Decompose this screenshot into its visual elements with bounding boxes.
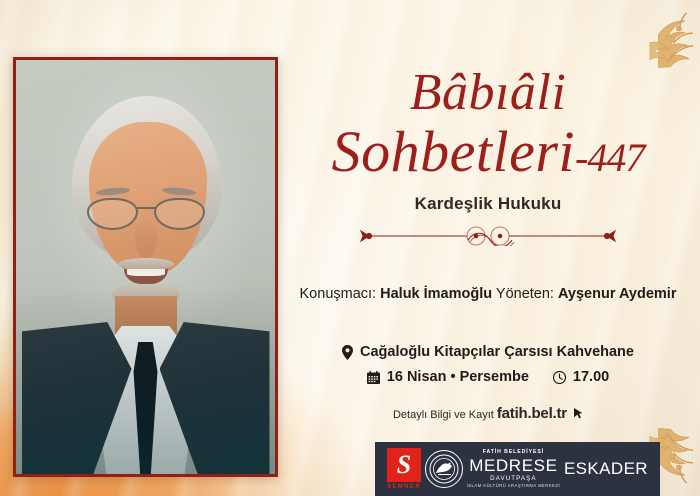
speaker-name: Haluk İmamoğlu (380, 286, 492, 302)
moderator-name: Ayşenur Aydemir (558, 286, 676, 302)
website-prefix: Detaylı Bilgi ve Kayıt (393, 409, 494, 421)
poster-title-number: -447 (575, 135, 644, 180)
semner-wordmark: SEMNER (387, 484, 421, 490)
poster-title-word: Sohbetleri (332, 119, 575, 184)
glasses-bridge (136, 207, 156, 209)
sponsor-logo-bar: S SEMNER FATİH BELEDİYESİ MEDRESE DAVUTP… (375, 442, 660, 496)
venue-text: Cağaloğlu Kitapçılar Çarsısı Kahvehane (360, 344, 634, 360)
calendar-icon (367, 371, 380, 384)
poster-subtitle: Kardeşlik Hukuku (288, 194, 688, 214)
portrait-shadow (16, 284, 275, 474)
medrese-main-text: MEDRESE (469, 457, 557, 474)
date-text: 16 Nisan • Persembe (387, 369, 529, 385)
clock-icon (553, 371, 566, 384)
glasses-lens-left (87, 198, 138, 230)
venue-row: Cağaloğlu Kitapçılar Çarsısı Kahvehane (288, 344, 688, 360)
cursor-click-icon (571, 411, 583, 423)
website-url[interactable]: fatih.bel.tr (497, 405, 567, 422)
location-pin-icon (342, 345, 353, 360)
moderator-label: Yöneten: (496, 286, 554, 302)
website-line: Detaylı Bilgi ve Kayıtfatih.bel.tr (288, 405, 688, 423)
time-text: 17.00 (573, 369, 609, 385)
poster-title-line1: Bâbıâli (288, 68, 688, 118)
event-details: Cağaloğlu Kitapçılar Çarsısı Kahvehane (288, 344, 688, 385)
medrese-top-text: FATİH BELEDİYESİ (483, 450, 544, 455)
semner-mark: S (387, 448, 421, 482)
logo-fatih-belediyesi (425, 450, 463, 488)
ornamental-divider (349, 226, 627, 246)
speakers-line: Konuşmacı: Haluk İmamoğlu Yöneten: Ayşen… (288, 286, 688, 302)
glasses-lens-right (154, 198, 205, 230)
logo-semner: S SEMNER (387, 448, 421, 490)
portrait-teeth (127, 269, 165, 276)
portrait-photo (16, 60, 275, 474)
event-poster: Bâbıâli Sohbetleri-447 Kardeşlik Hukuku (0, 0, 700, 496)
poster-title-line2: Sohbetleri-447 (288, 124, 688, 180)
portrait-nose (135, 218, 157, 258)
medrese-footer-text: İSLAM KÜLTÜRÜ ARAŞTIRMA MERKEZİ (467, 484, 561, 488)
datetime-row: 16 Nisan • Persembe 17.00 (288, 369, 688, 385)
title-block: Bâbıâli Sohbetleri-447 Kardeşlik Hukuku (288, 68, 688, 251)
speaker-label: Konuşmacı: (300, 286, 377, 302)
poster-content: Bâbıâli Sohbetleri-447 Kardeşlik Hukuku (288, 0, 700, 496)
medrese-sub-text: DAVUTPAŞA (490, 476, 536, 482)
speaker-portrait (13, 57, 278, 477)
logo-medrese-davutpasa: FATİH BELEDİYESİ MEDRESE DAVUTPAŞA İSLAM… (467, 450, 561, 489)
fatih-seal-icon (425, 450, 463, 488)
logo-eskader: ESKADER (564, 459, 648, 479)
